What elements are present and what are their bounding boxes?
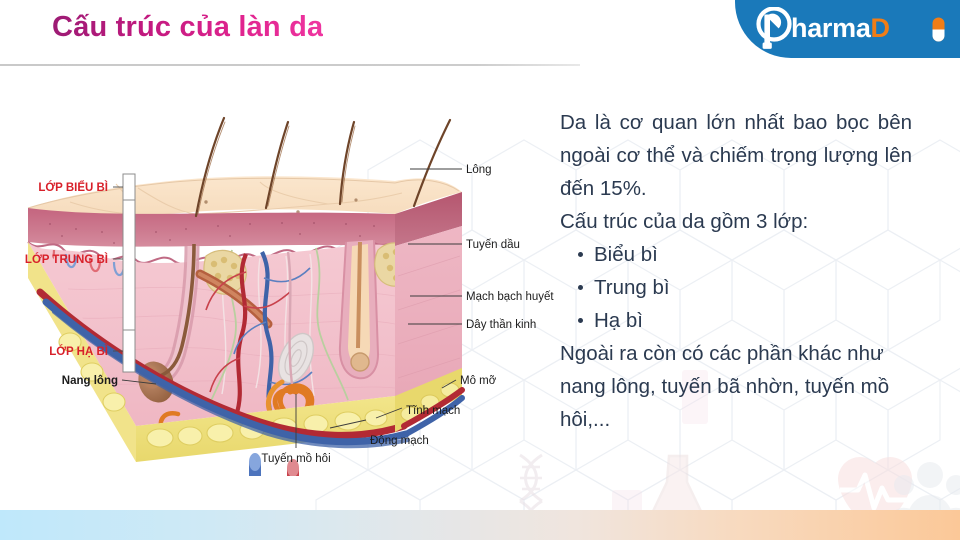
pharmadi-p-pill-icon (753, 7, 795, 51)
part-label-sweat-gland: Tuyến mồ hôi (261, 453, 330, 465)
part-label-hair: Lông (466, 164, 492, 176)
capsule-pill-icon (932, 17, 945, 42)
paragraph-intro: Da là cơ quan lớn nhất bao bọc bên ngoài… (560, 106, 912, 205)
paragraph-other-parts: Ngoài ra còn có các phần khác như nang l… (560, 337, 912, 436)
bottom-gradient-band (0, 510, 960, 540)
brand-name-white: harma (791, 13, 871, 43)
body-content: Da là cơ quan lớn nhất bao bọc bên ngoài… (560, 106, 912, 436)
layer-label-epidermis: LỚP BIỂU BÌ (38, 181, 108, 194)
list-item-label: Trung bì (594, 276, 670, 299)
bullet-dot-icon (578, 252, 583, 257)
header-divider (0, 64, 580, 66)
part-label-lymph-vessel: Mạch bạch huyết (466, 291, 554, 303)
list-item-label: Hạ bì (594, 309, 643, 332)
part-label-hair-follicle: Nang lông (62, 375, 118, 387)
part-label-nerve: Dây thần kinh (466, 319, 536, 331)
bullet-dot-icon (578, 318, 583, 323)
skin-cross-section-diagram: LỚP BIỂU BÌ LỚP TRUNG BÌ LỚP HẠ BÌ Lông … (10, 96, 555, 476)
layer-label-hypodermis: LỚP HẠ BÌ (49, 345, 108, 358)
brand-logo-text: harmaD (791, 11, 890, 45)
slide-root: Cấu trúc của làn da harmaD (0, 0, 960, 540)
brand-name-orange: D (871, 13, 890, 43)
part-label-fat-tissue: Mô mỡ (460, 375, 497, 387)
page-title: Cấu trúc của làn da (52, 11, 323, 44)
brand-logo[interactable]: harmaD (735, 0, 960, 58)
list-item: Hạ bì (560, 304, 912, 337)
skin-layer-list: Biểu bì Trung bì Hạ bì (560, 238, 912, 337)
bullet-dot-icon (578, 285, 583, 290)
part-label-sebaceous-gland: Tuyến dầu (466, 239, 520, 251)
list-item-label: Biểu bì (594, 243, 658, 266)
list-item: Trung bì (560, 271, 912, 304)
part-label-artery: Động mạch (370, 435, 429, 447)
part-label-vein: Tĩnh mạch (406, 405, 460, 417)
paragraph-layers-lead: Cấu trúc của da gồm 3 lớp: (560, 205, 912, 238)
list-item: Biểu bì (560, 238, 912, 271)
layer-label-dermis: LỚP TRUNG BÌ (25, 253, 108, 266)
